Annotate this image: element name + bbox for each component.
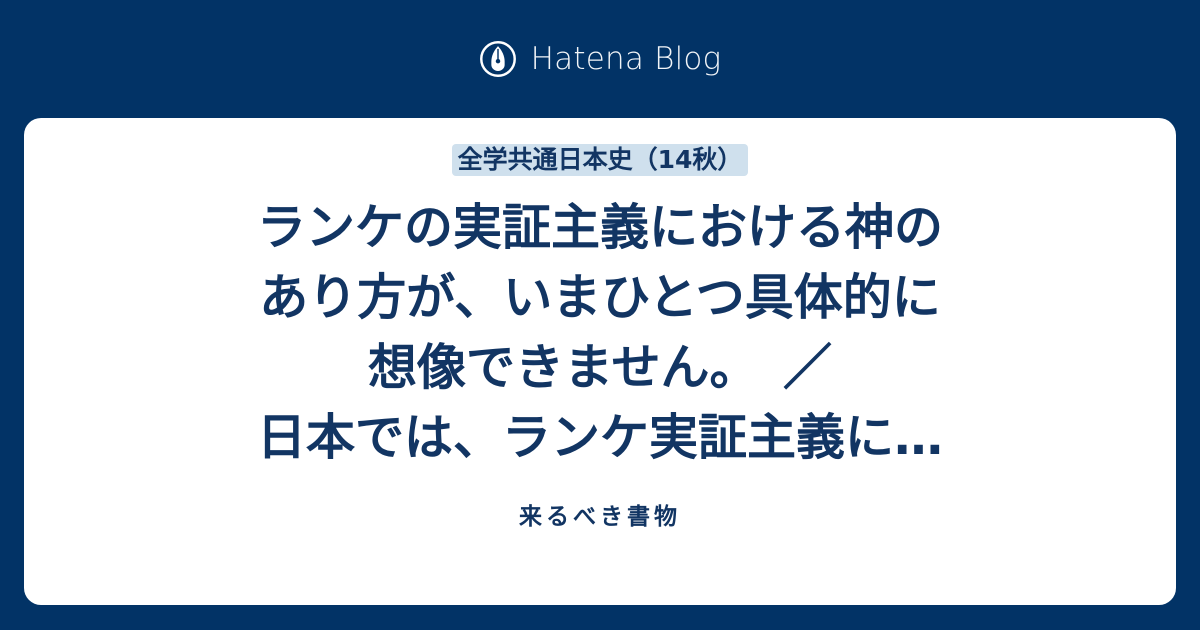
entry-title-line-3: 想像できません。 ／: [64, 333, 1136, 403]
entry-card: 全学共通日本史（14秋） ランケの実証主義における神の あり方が、いまひとつ具体…: [24, 118, 1176, 605]
category-tag-badge[interactable]: 全学共通日本史（14秋）: [452, 144, 749, 176]
entry-title-line-2: あり方が、いまひとつ具体的に: [64, 263, 1136, 333]
og-image-canvas: Hatena Blog 全学共通日本史（14秋） ランケの実証主義における神の …: [0, 0, 1200, 630]
entry-title: ランケの実証主義における神の あり方が、いまひとつ具体的に 想像できません。 ／…: [64, 193, 1136, 473]
brand-label: Hatena Blog: [531, 44, 722, 75]
brand-header: Hatena Blog: [0, 0, 1200, 118]
entry-card-inner: 全学共通日本史（14秋） ランケの実証主義における神の あり方が、いまひとつ具体…: [24, 118, 1176, 605]
blog-name: 来るべき書物: [24, 503, 1176, 531]
hatena-pen-nib-icon: [479, 40, 517, 78]
entry-title-line-4: 日本では、ランケ実証主義に…: [64, 403, 1136, 473]
entry-title-line-1: ランケの実証主義における神の: [64, 193, 1136, 263]
